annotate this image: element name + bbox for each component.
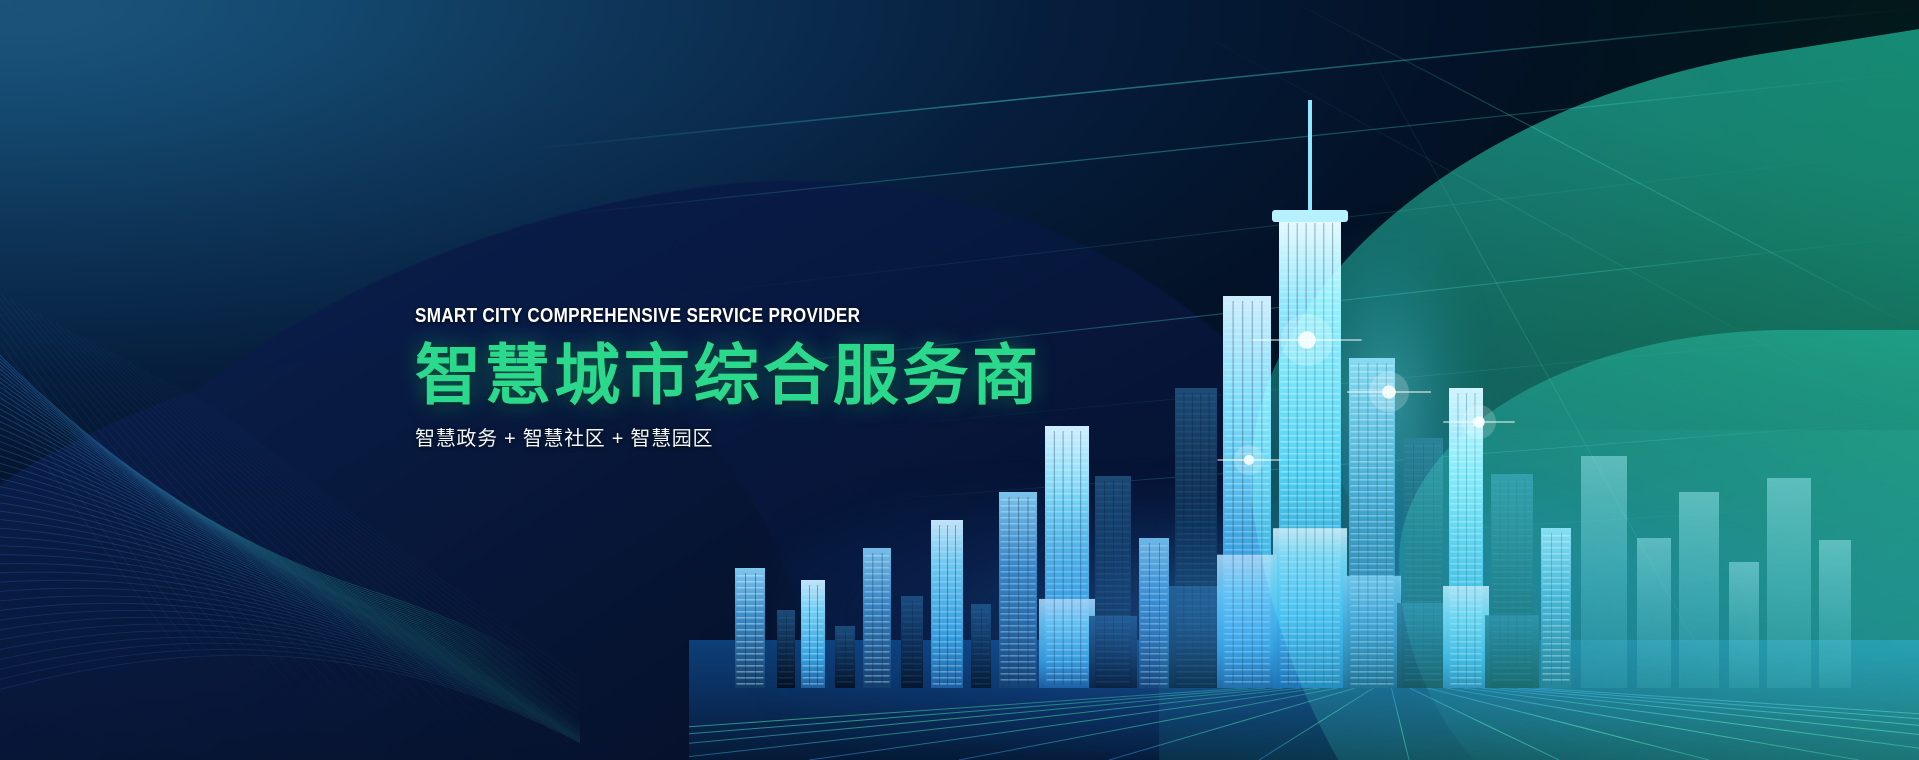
subtitle-services: 智慧政务 + 智慧社区 + 智慧园区 — [415, 429, 1042, 449]
hero-copy-block: SMART CITY COMPREHENSIVE SERVICE PROVIDE… — [415, 306, 1042, 449]
smart-city-hero-banner: SMART CITY COMPREHENSIVE SERVICE PROVIDE… — [0, 0, 1919, 760]
eyebrow-tagline: SMART CITY COMPREHENSIVE SERVICE PROVIDE… — [415, 306, 951, 326]
page-title: 智慧城市综合服务商 — [415, 342, 1042, 408]
